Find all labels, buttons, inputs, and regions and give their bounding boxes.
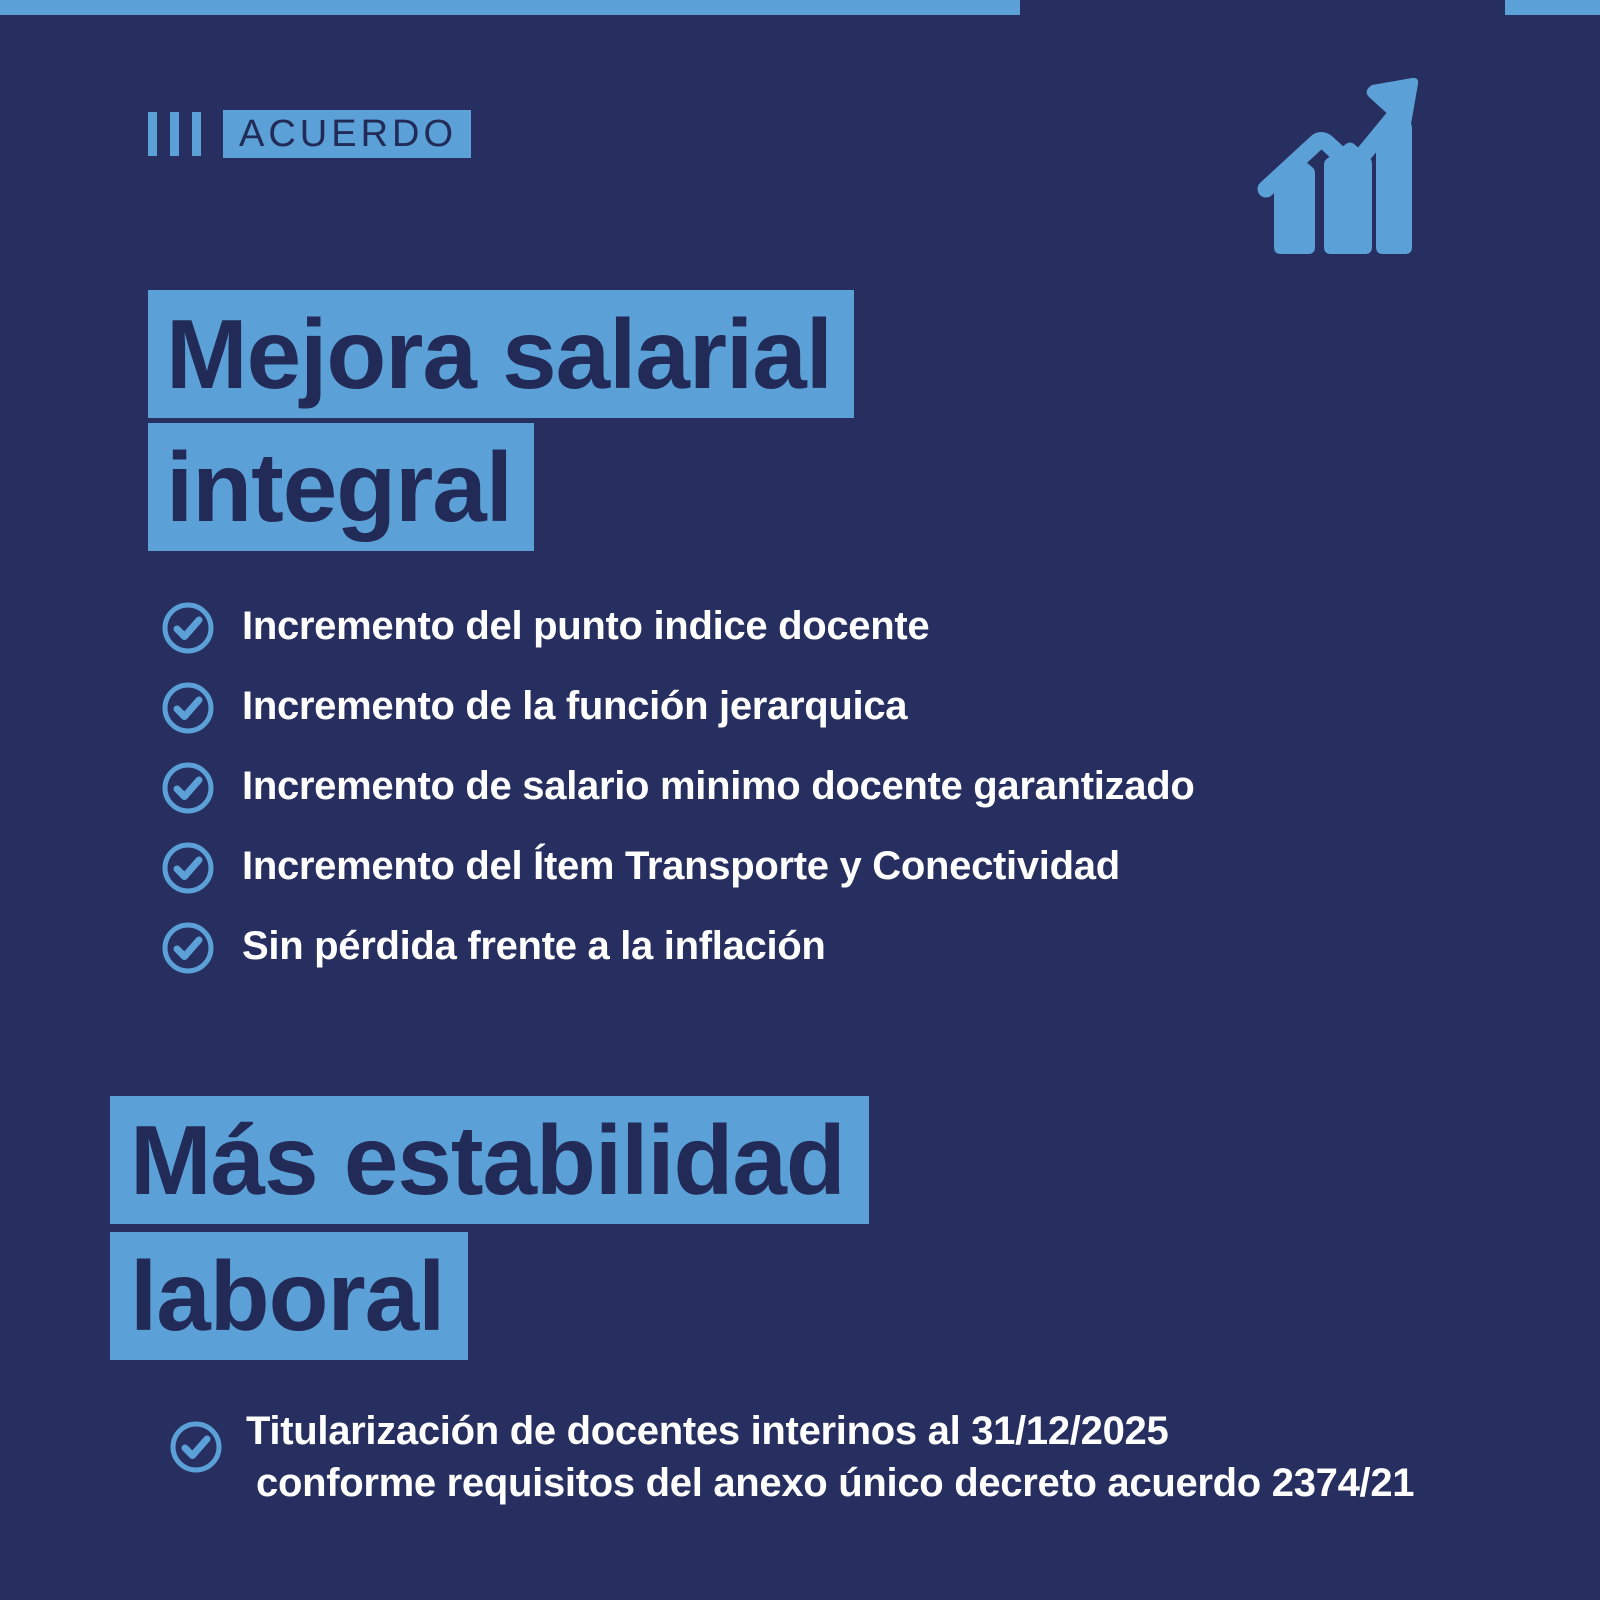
check-circle-icon <box>168 1419 224 1475</box>
headline-mas-estabilidad: Más estabilidad laboral <box>110 1096 869 1360</box>
acuerdo-badge: ACUERDO <box>148 110 471 158</box>
list-item-label: Sin pérdida frente a la inflación <box>242 918 826 974</box>
titularizacion-line-1: Titularización de docentes interinos al … <box>246 1409 1168 1453</box>
list-item: Sin pérdida frente a la inflación <box>160 918 1194 976</box>
top-accent-bar-left <box>0 0 1020 15</box>
check-circle-icon <box>160 840 216 896</box>
badge-bars-decoration <box>148 110 201 158</box>
check-circle-icon <box>160 920 216 976</box>
benefits-list: Incremento del punto indice docente Incr… <box>160 598 1194 976</box>
check-circle-icon <box>160 760 216 816</box>
top-accent-bar-right <box>1505 0 1600 15</box>
titularizacion-text: Titularización de docentes interinos al … <box>246 1405 1414 1509</box>
list-item: Incremento de salario minimo docente gar… <box>160 758 1194 816</box>
headline-mejora-salarial: Mejora salarial integral <box>148 290 854 551</box>
headline-2-line-2: laboral <box>110 1232 468 1360</box>
check-circle-icon <box>160 600 216 656</box>
list-item-label: Incremento de la función jerarquica <box>242 678 907 734</box>
headline-1-line-2: integral <box>148 423 534 551</box>
titularizacion-line-2: conforme requisitos del anexo único decr… <box>246 1457 1414 1509</box>
list-item: Incremento del punto indice docente <box>160 598 1194 656</box>
check-circle-icon <box>160 680 216 736</box>
list-item-label: Incremento del Ítem Transporte y Conecti… <box>242 838 1120 894</box>
acuerdo-badge-label: ACUERDO <box>223 110 471 158</box>
headline-1-line-1: Mejora salarial <box>148 290 854 418</box>
titularizacion-list-item: Titularización de docentes interinos al … <box>168 1405 1414 1509</box>
list-item: Incremento de la función jerarquica <box>160 678 1194 736</box>
badge-bar-2 <box>170 112 179 156</box>
list-item-label: Incremento de salario minimo docente gar… <box>242 758 1194 814</box>
growth-chart-arrow-icon <box>1252 72 1420 257</box>
badge-bar-1 <box>148 112 157 156</box>
headline-2-line-1: Más estabilidad <box>110 1096 869 1224</box>
badge-bar-3 <box>192 112 201 156</box>
list-item-label: Incremento del punto indice docente <box>242 598 929 654</box>
list-item: Incremento del Ítem Transporte y Conecti… <box>160 838 1194 896</box>
